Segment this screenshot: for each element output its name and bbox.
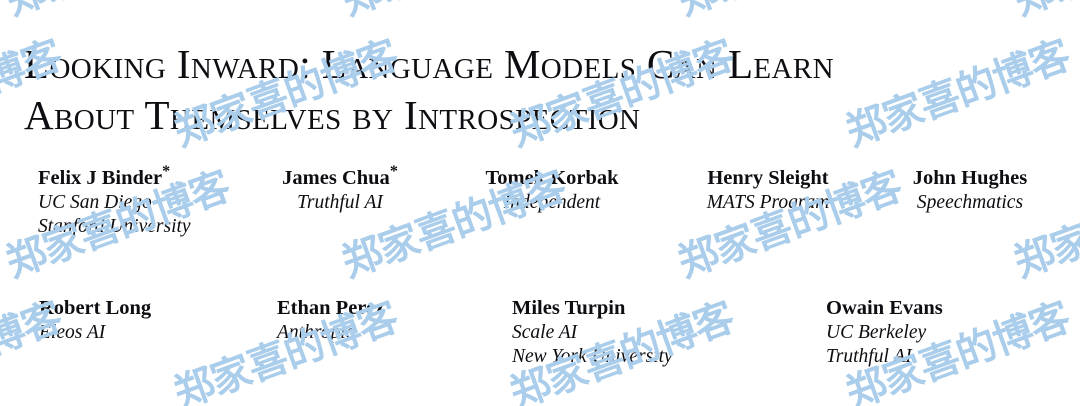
author-name-text: Owain Evans — [826, 297, 943, 319]
author-name-text: Ethan Perez — [277, 297, 384, 319]
author-name: James Chua* — [250, 166, 430, 191]
author-affiliation: Independent — [457, 191, 647, 215]
author-affiliation: Eleos AI — [39, 321, 151, 345]
author-entry-john-hughes: John Hughes Speechmatics — [890, 166, 1050, 215]
author-block: Felix J Binder* UC San Diego Stanford Un… — [0, 0, 1080, 406]
author-affiliation: Truthful AI — [826, 345, 943, 369]
author-name: Felix J Binder* — [38, 166, 191, 191]
author-name: Henry Sleight — [684, 166, 852, 191]
author-entry-henry-sleight: Henry Sleight MATS Program — [684, 166, 852, 215]
author-name: Miles Turpin — [512, 296, 673, 321]
author-name-text: Robert Long — [39, 297, 151, 319]
author-affiliation: UC Berkeley — [826, 321, 943, 345]
author-name: Owain Evans — [826, 296, 943, 321]
author-affiliation: Speechmatics — [890, 191, 1050, 215]
author-name-text: John Hughes — [913, 167, 1028, 189]
author-name: Tomek Korbak — [457, 166, 647, 191]
author-name-text: Henry Sleight — [707, 167, 828, 189]
author-affiliation: UC San Diego — [38, 191, 191, 215]
author-entry-ethan-perez: Ethan Perez Anthropic — [277, 296, 384, 345]
author-name: John Hughes — [890, 166, 1050, 191]
author-name: Robert Long — [39, 296, 151, 321]
author-entry-miles-turpin: Miles Turpin Scale AI New York Universit… — [512, 296, 673, 369]
author-affiliation: New York University — [512, 345, 673, 369]
author-name-text: Tomek Korbak — [485, 167, 618, 189]
author-entry-tomek-korbak: Tomek Korbak Independent — [457, 166, 647, 215]
author-affiliation: Truthful AI — [250, 191, 430, 215]
author-name: Ethan Perez — [277, 296, 384, 321]
author-footnote-marker: * — [162, 163, 170, 180]
author-entry-james-chua: James Chua* Truthful AI — [250, 166, 430, 215]
author-entry-robert-long: Robert Long Eleos AI — [39, 296, 151, 345]
author-affiliation: Stanford University — [38, 215, 191, 239]
author-name-text: James Chua — [282, 167, 390, 189]
author-affiliation: Anthropic — [277, 321, 384, 345]
author-entry-felix-j-binder: Felix J Binder* UC San Diego Stanford Un… — [38, 166, 191, 239]
author-affiliation: Scale AI — [512, 321, 673, 345]
paper-header-page: Looking Inward: Language Models Can Lear… — [0, 0, 1080, 406]
author-name-text: Felix J Binder — [38, 167, 162, 189]
author-affiliation: MATS Program — [684, 191, 852, 215]
author-entry-owain-evans: Owain Evans UC Berkeley Truthful AI — [826, 296, 943, 369]
author-name-text: Miles Turpin — [512, 297, 625, 319]
author-footnote-marker: * — [390, 163, 398, 180]
